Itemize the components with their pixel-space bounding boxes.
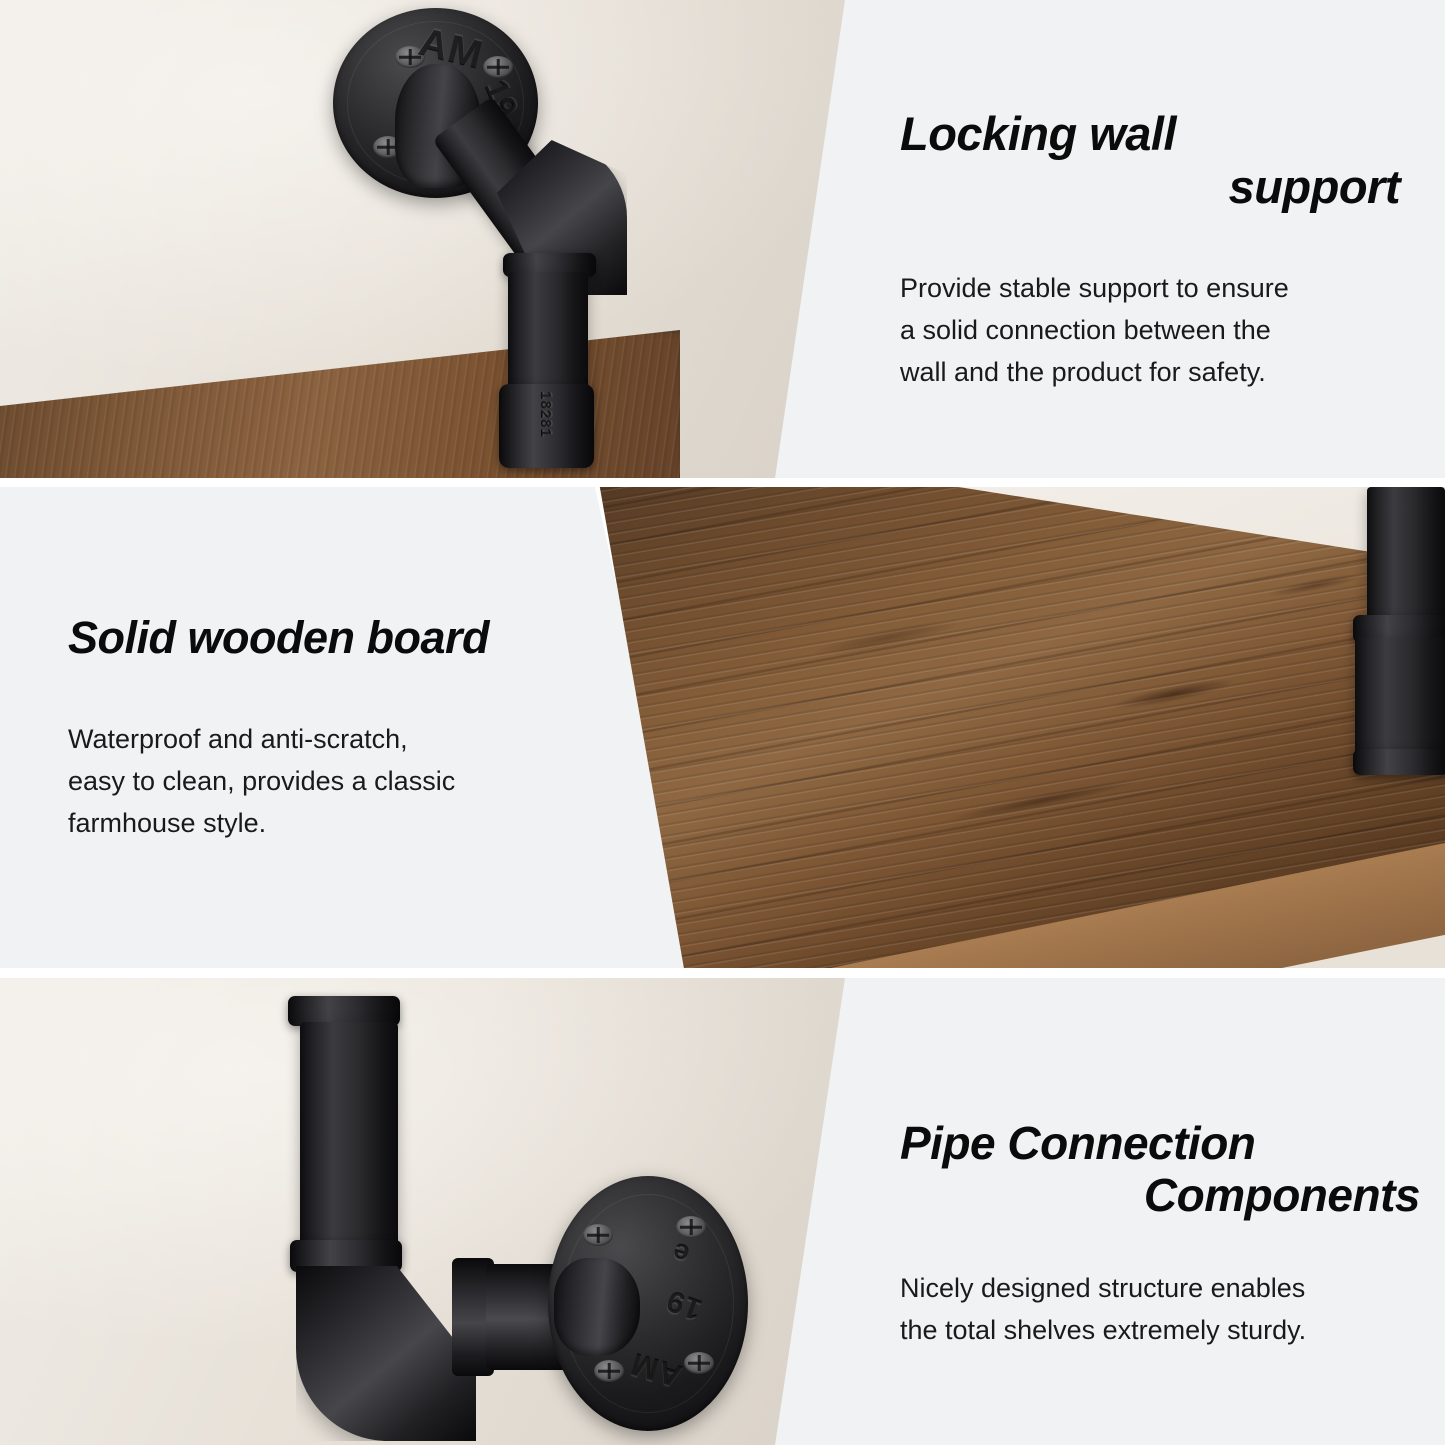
panel-1-body-line-3: wall and the product for safety.: [900, 352, 1380, 394]
feature-panel-locking-wall-support: AM 19 18281 Locking wall support: [0, 0, 1445, 478]
panel-2-textcard: Solid wooden board Waterproof and anti-s…: [0, 487, 700, 968]
collar-emboss-code: 18281: [538, 391, 555, 438]
panel-3-body-line-2: the total shelves extremely sturdy.: [900, 1310, 1400, 1352]
panel-1-title-line-1: Locking wall: [900, 108, 1400, 161]
panel-2-body-line-3: farmhouse style.: [68, 803, 588, 845]
pipe-segment-vertical: [508, 272, 588, 394]
panel-3-textcard: Pipe Connection Components Nicely design…: [760, 978, 1445, 1445]
panel-1-textcard: Locking wall support Provide stable supp…: [760, 0, 1445, 478]
flange-hub: [554, 1258, 640, 1356]
feature-panel-solid-wooden-board: Solid wooden board Waterproof and anti-s…: [0, 487, 1445, 968]
flange-screw-top-right: [483, 56, 513, 78]
flange-screw-bottom-left: [594, 1360, 624, 1382]
pipe-leg-body: [1355, 637, 1445, 757]
panel-2-body-line-2: easy to clean, provides a classic: [68, 761, 588, 803]
panel-1-title: Locking wall support: [900, 108, 1400, 213]
pipe-leg-collar-bottom: [1353, 749, 1445, 775]
panel-2-photo: [560, 487, 1445, 968]
pipe-leg-upper: [1367, 487, 1445, 627]
product-feature-infographic: AM 19 18281 Locking wall support: [0, 0, 1445, 1445]
panel-3-title-line-1: Pipe Connection: [900, 1118, 1420, 1170]
panel-1-photo: AM 19 18281: [0, 0, 865, 478]
panel-3-body: Nicely designed structure enables the to…: [900, 1268, 1400, 1352]
panel-3-body-line-1: Nicely designed structure enables: [900, 1268, 1400, 1310]
panel-1-body: Provide stable support to ensure a solid…: [900, 268, 1380, 394]
panel-2-title: Solid wooden board: [68, 613, 628, 663]
pipe-collar-lower: 18281: [499, 384, 594, 468]
panel-3-title: Pipe Connection Components: [900, 1118, 1420, 1221]
flange-screw-top-right: [676, 1216, 706, 1238]
panel-3-photo: e 19 AM: [0, 978, 865, 1445]
flange-screw-top-left: [583, 1224, 613, 1246]
wall-flange: e 19 AM: [548, 1176, 748, 1431]
panel-2-body: Waterproof and anti-scratch, easy to cle…: [68, 719, 588, 845]
panel-1-title-line-2: support: [900, 161, 1400, 214]
pipe-segment-vertical: [300, 1022, 398, 1252]
panel-1-body-line-1: Provide stable support to ensure: [900, 268, 1380, 310]
flange-screw-bottom-right: [684, 1352, 714, 1374]
panel-1-body-line-2: a solid connection between the: [900, 310, 1380, 352]
feature-panel-pipe-connection-components: e 19 AM Pipe Connection Components Nicel…: [0, 978, 1445, 1445]
flange-screw-top-left: [395, 46, 425, 68]
panel-3-title-line-2: Components: [900, 1170, 1420, 1222]
panel-2-title-line-1: Solid wooden board: [68, 613, 628, 663]
panel-2-body-line-1: Waterproof and anti-scratch,: [68, 719, 588, 761]
